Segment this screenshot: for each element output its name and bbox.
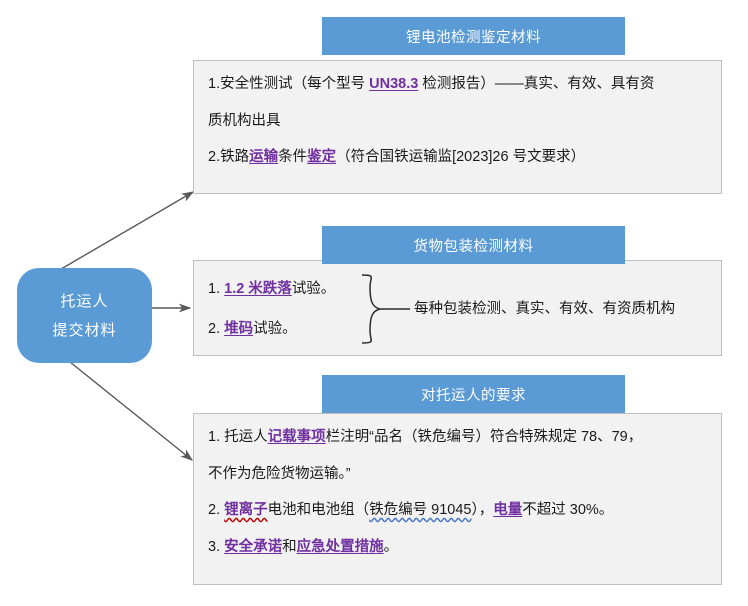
text-run: 2. <box>208 502 224 518</box>
packaging-test-items: 1. 1.2 米跌落试验。 2. 堆码试验。 <box>208 282 358 337</box>
grammar-run-rail-code: 铁危编号 91045 <box>369 502 471 518</box>
text-run: 质机构出具 <box>208 113 281 129</box>
highlight-run-safety-commitment: 安全承诺 <box>224 539 282 555</box>
content-line: 1. 托运人记载事项栏注明“品名（铁危编号）符合特殊规定 78、79， <box>208 430 707 445</box>
highlight-run-emergency-measures: 应急处置措施 <box>297 539 384 555</box>
highlight-run-capacity: 电量 <box>493 502 522 518</box>
section-header-shipper-requirements[interactable]: 对托运人的要求 <box>322 375 625 413</box>
content-box-packaging-test: 1. 1.2 米跌落试验。 2. 堆码试验。 每种包装检测、真实、有效、有资质机… <box>193 260 722 356</box>
text-run: 检测报告）——真实、有效、具有资 <box>418 76 654 92</box>
text-run: 不作为危险货物运输。” <box>208 466 351 482</box>
section-header-battery-test[interactable]: 锂电池检测鉴定材料 <box>322 17 625 55</box>
curly-brace-icon <box>358 273 414 345</box>
text-run: 和 <box>282 539 297 555</box>
text-run: 栏注明“品名（铁危编号）符合特殊规定 78、79， <box>326 429 643 445</box>
text-run: 条件 <box>278 149 307 165</box>
text-run: ）， <box>471 502 493 518</box>
content-line: 2. 堆码试验。 <box>208 322 358 337</box>
highlight-run-record-column: 记载事项 <box>268 429 326 445</box>
arrow-to-shipper-requirements <box>70 362 192 460</box>
text-run: 不超过 30%。 <box>522 502 613 518</box>
text-run: 2. <box>208 321 224 337</box>
highlight-run-un383: UN38.3 <box>369 76 418 92</box>
text-run: 1.安全性测试（每个型号 <box>208 76 369 92</box>
content-line: 3. 安全承诺和应急处置措施。 <box>208 540 707 555</box>
packaging-test-note: 每种包装检测、真实、有效、有资质机构 <box>414 302 707 317</box>
content-line: 1. 1.2 米跌落试验。 <box>208 282 358 297</box>
content-line: 1.安全性测试（每个型号 UN38.3 检测报告）——真实、有效、具有资 <box>208 77 707 92</box>
content-line: 不作为危险货物运输。” <box>208 467 707 482</box>
highlight-run-lithium-ion: 锂离子 <box>224 502 268 518</box>
section-header-packaging-test[interactable]: 货物包装检测材料 <box>322 226 625 264</box>
text-run: 2.铁路 <box>208 149 249 165</box>
diagram-canvas: 托运人 提交材料 锂电池检测鉴定材料 1.安全性测试（每个型号 UN38.3 检… <box>0 0 748 606</box>
text-run: 3. <box>208 539 224 555</box>
shipper-node[interactable]: 托运人 提交材料 <box>17 268 152 363</box>
highlight-run-stacking: 堆码 <box>224 321 253 337</box>
content-line: 质机构出具 <box>208 114 707 129</box>
content-box-battery-test: 1.安全性测试（每个型号 UN38.3 检测报告）——真实、有效、具有资 质机构… <box>193 60 722 194</box>
highlight-run-transport: 运输 <box>249 149 278 165</box>
text-run: 试验。 <box>253 321 297 337</box>
text-run: 试验。 <box>292 281 336 297</box>
shipper-node-line-2: 提交材料 <box>52 323 116 338</box>
content-box-shipper-requirements: 1. 托运人记载事项栏注明“品名（铁危编号）符合特殊规定 78、79， 不作为危… <box>193 413 722 585</box>
text-run: 1. <box>208 281 224 297</box>
shipper-node-line-1: 托运人 <box>60 294 108 309</box>
content-line: 2. 锂离子电池和电池组（铁危编号 91045），电量不超过 30%。 <box>208 503 707 518</box>
highlight-run-appraisal: 鉴定 <box>307 149 336 165</box>
text-run: 。 <box>384 539 399 555</box>
packaging-test-layout: 1. 1.2 米跌落试验。 2. 堆码试验。 每种包装检测、真实、有效、有资质机… <box>208 273 707 345</box>
text-run: 1. 托运人 <box>208 429 268 445</box>
text-run: （符合国铁运输监[2023]26 号文要求） <box>336 149 585 165</box>
arrow-to-battery-test <box>56 192 193 272</box>
text-run: 电池和电池组（ <box>268 502 370 518</box>
highlight-run-drop-test: 1.2 米跌落 <box>224 281 292 297</box>
content-line: 2.铁路运输条件鉴定（符合国铁运输监[2023]26 号文要求） <box>208 150 707 165</box>
